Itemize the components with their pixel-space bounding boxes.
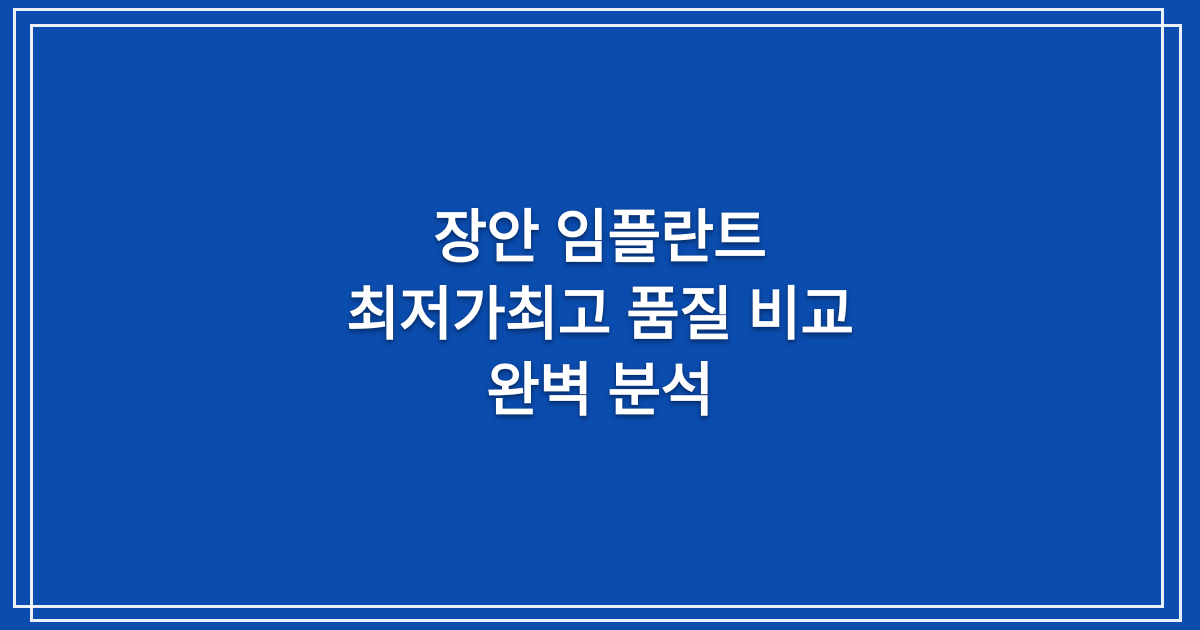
title-line-2: 최저가최고 품질 비교 — [347, 277, 854, 354]
title-line-1: 장안 임플란트 — [347, 200, 854, 277]
thumbnail-card: 장안 임플란트 최저가최고 품질 비교 완벽 분석 — [0, 0, 1200, 630]
page-title: 장안 임플란트 최저가최고 품질 비교 완벽 분석 — [347, 200, 854, 430]
title-block: 장안 임플란트 최저가최고 품질 비교 완벽 분석 — [0, 0, 1200, 630]
title-line-3: 완벽 분석 — [347, 353, 854, 430]
